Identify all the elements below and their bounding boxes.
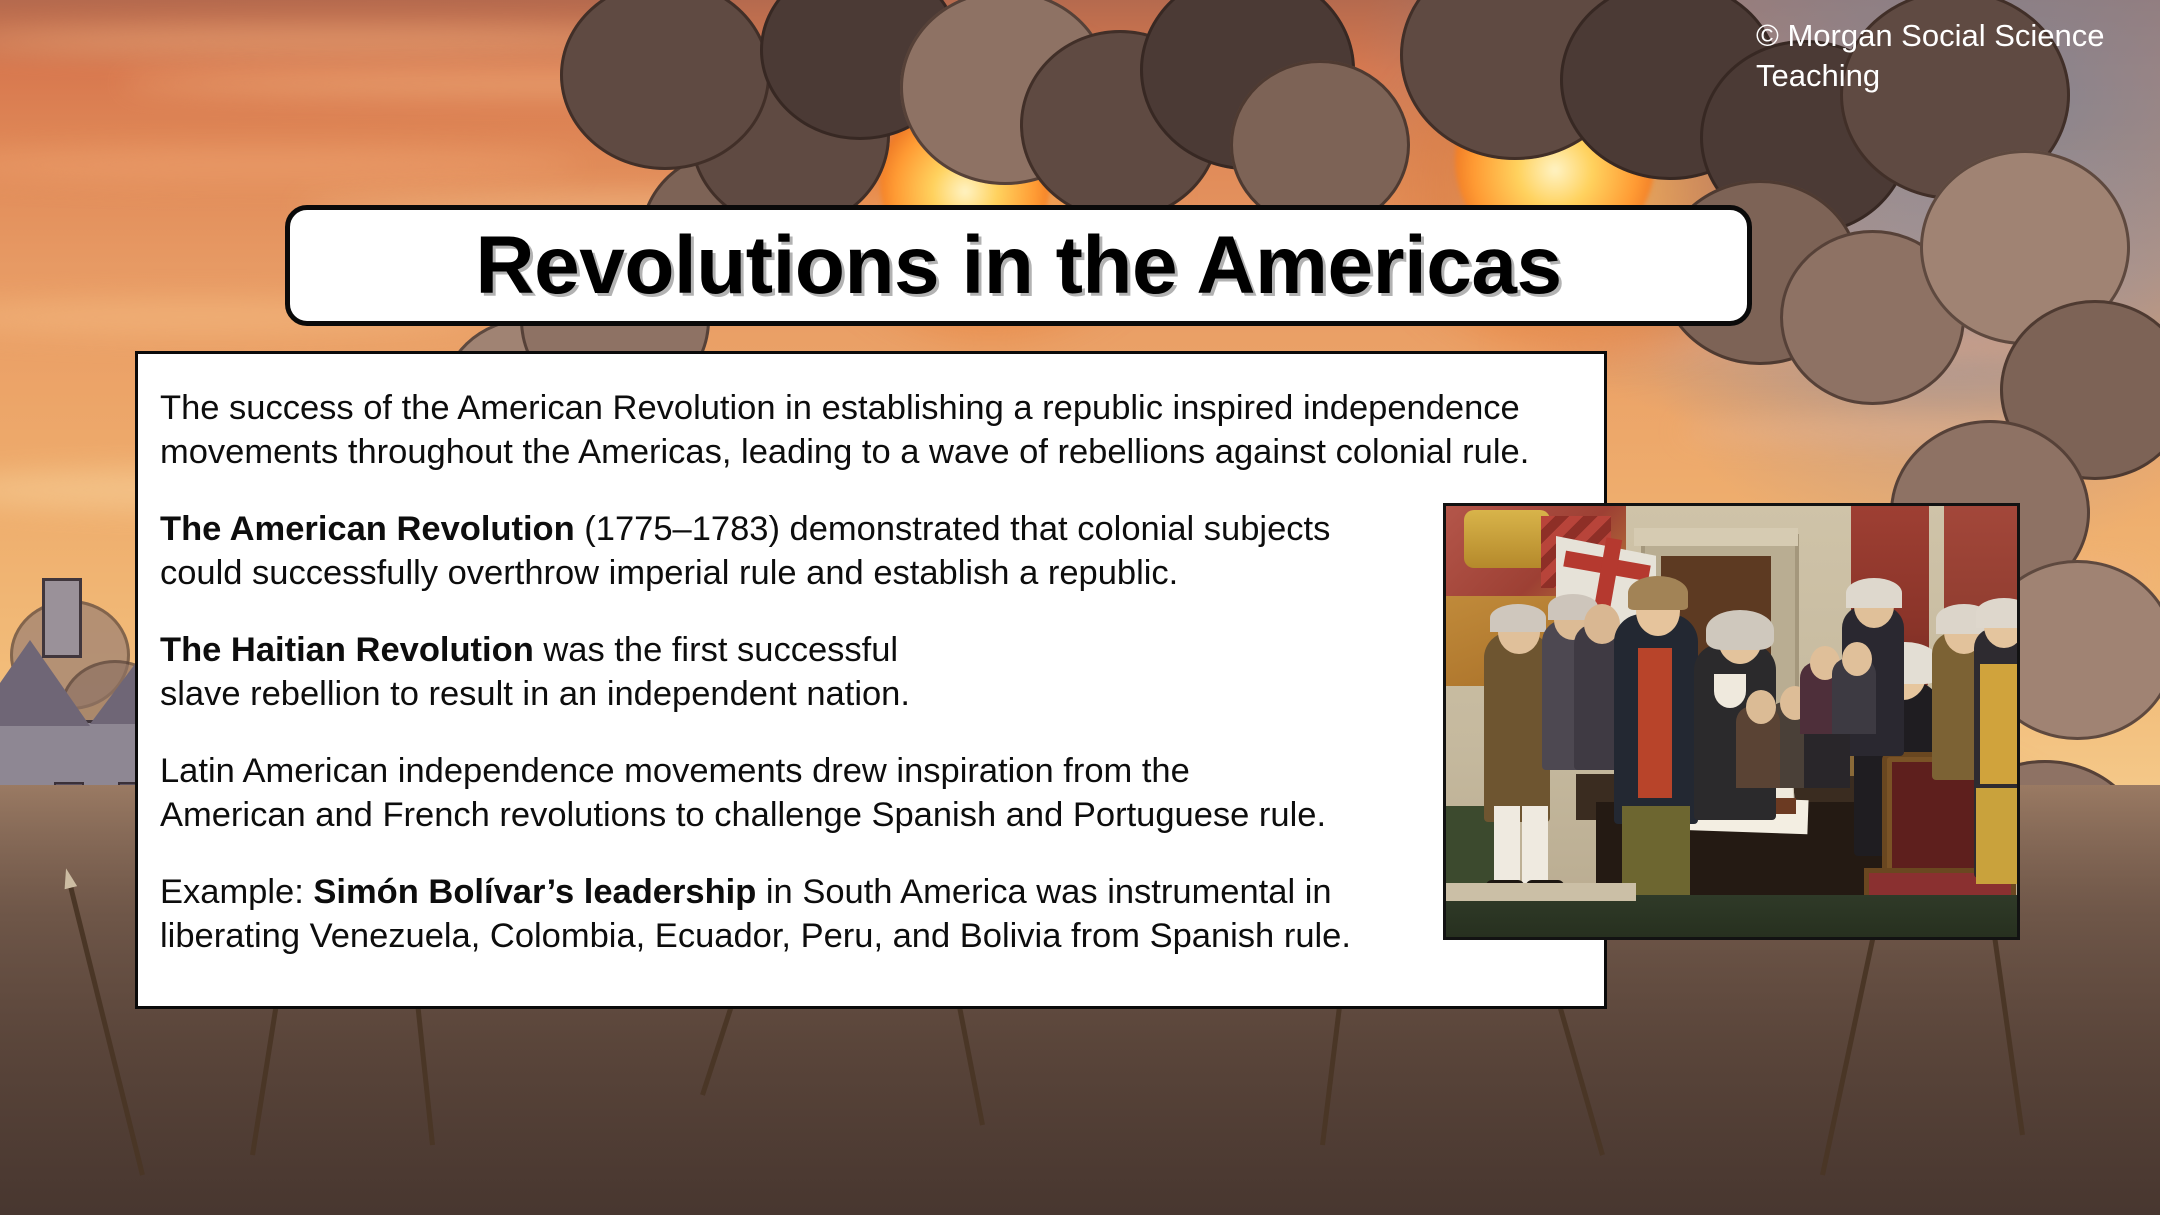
emphasis-text: The American Revolution — [160, 510, 575, 548]
body-text: Example: — [160, 873, 313, 911]
emphasis-text: Simón Bolívar’s leadership — [313, 873, 756, 911]
body-text-card: The success of the American Revolution i… — [135, 351, 1607, 1009]
copyright-notice: © Morgan Social Science Teaching — [1756, 16, 2136, 96]
body-text: The success of the American Revolution i… — [160, 389, 1529, 471]
slide-canvas: © Morgan Social Science Teaching Revolut… — [0, 0, 2160, 1215]
paragraph-latin-american: Latin American independence movements dr… — [160, 749, 1574, 837]
paragraph-intro: The success of the American Revolution i… — [160, 386, 1574, 474]
paragraph-list: The success of the American Revolution i… — [160, 386, 1574, 958]
paragraph-haitian-revolution: The Haitian Revolution was the first suc… — [160, 628, 1574, 716]
body-text: Latin American independence movements dr… — [160, 752, 1326, 834]
declaration-of-independence-painting — [1443, 503, 2020, 940]
paragraph-american-revolution: The American Revolution (1775–1783) demo… — [160, 507, 1574, 595]
emphasis-text: The Haitian Revolution — [160, 631, 534, 669]
title-card: Revolutions in the Americas — [285, 205, 1752, 326]
paragraph-bolivar-example: Example: Simón Bolívar’s leadership in S… — [160, 870, 1574, 958]
page-title: Revolutions in the Americas — [475, 225, 1561, 307]
